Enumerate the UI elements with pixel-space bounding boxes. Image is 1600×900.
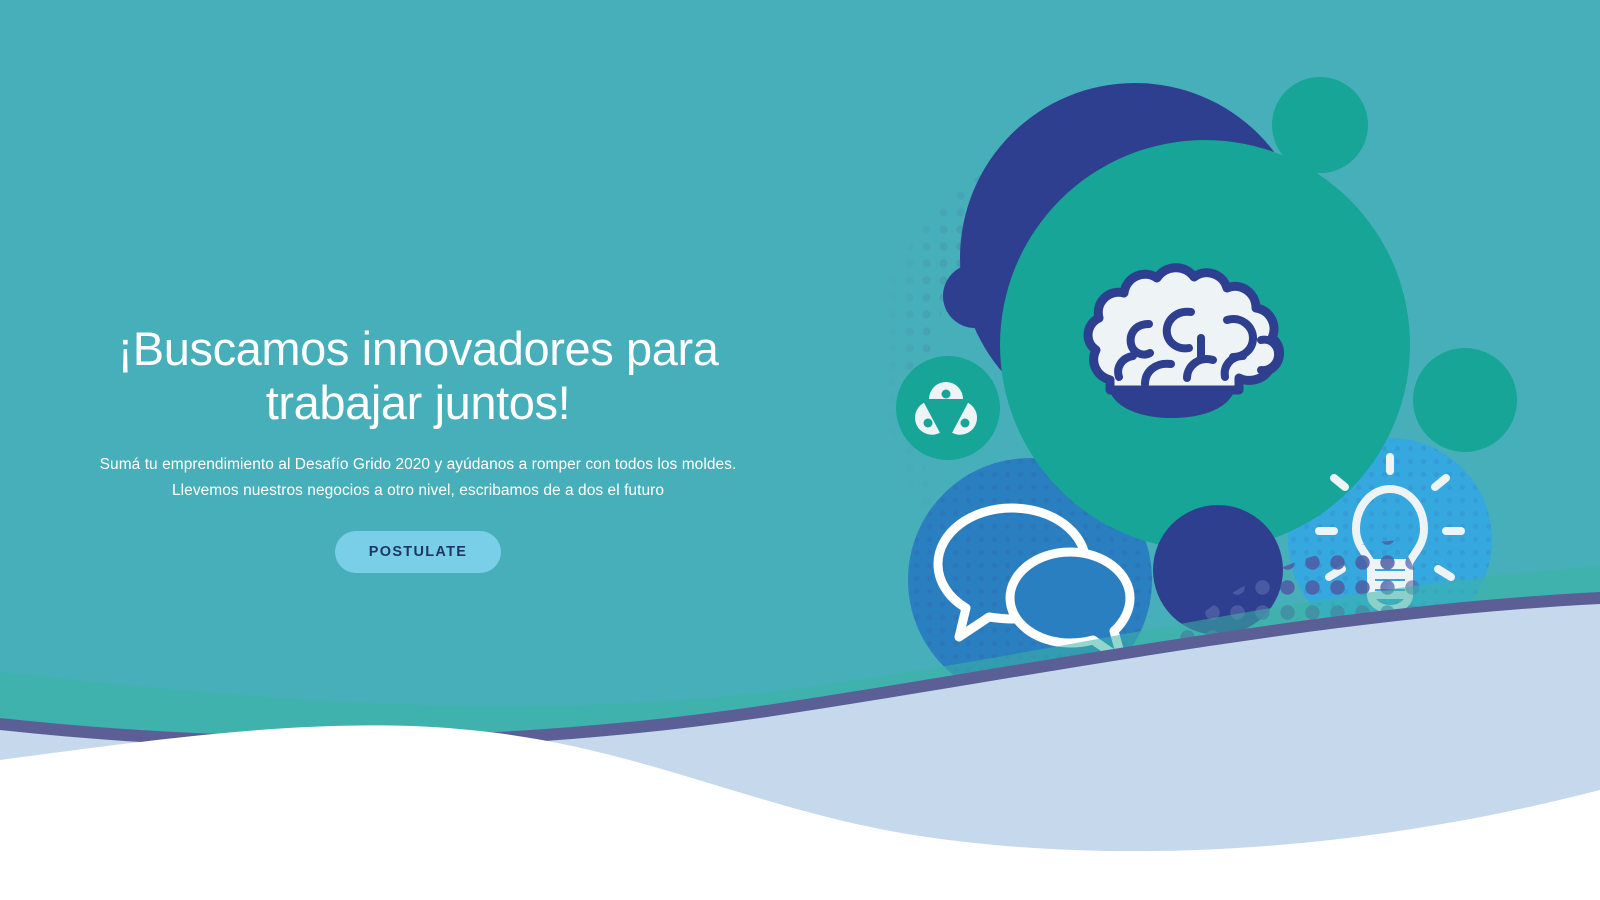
hero-copy: ¡Buscamos innovadores para trabajar junt… [0,322,836,573]
postulate-button[interactable]: POSTULATE [335,531,501,573]
circle-teal-small-right [1413,348,1517,452]
circle-navy-small [943,264,1007,328]
hero-subtitle: Sumá tu emprendimiento al Desafío Grido … [0,452,836,504]
hero-banner: ¡Buscamos innovadores para trabajar junt… [0,0,1600,900]
cta-row: POSTULATE [0,531,836,573]
page-title: ¡Buscamos innovadores para trabajar junt… [0,322,836,430]
circle-teal-people [896,356,1000,460]
